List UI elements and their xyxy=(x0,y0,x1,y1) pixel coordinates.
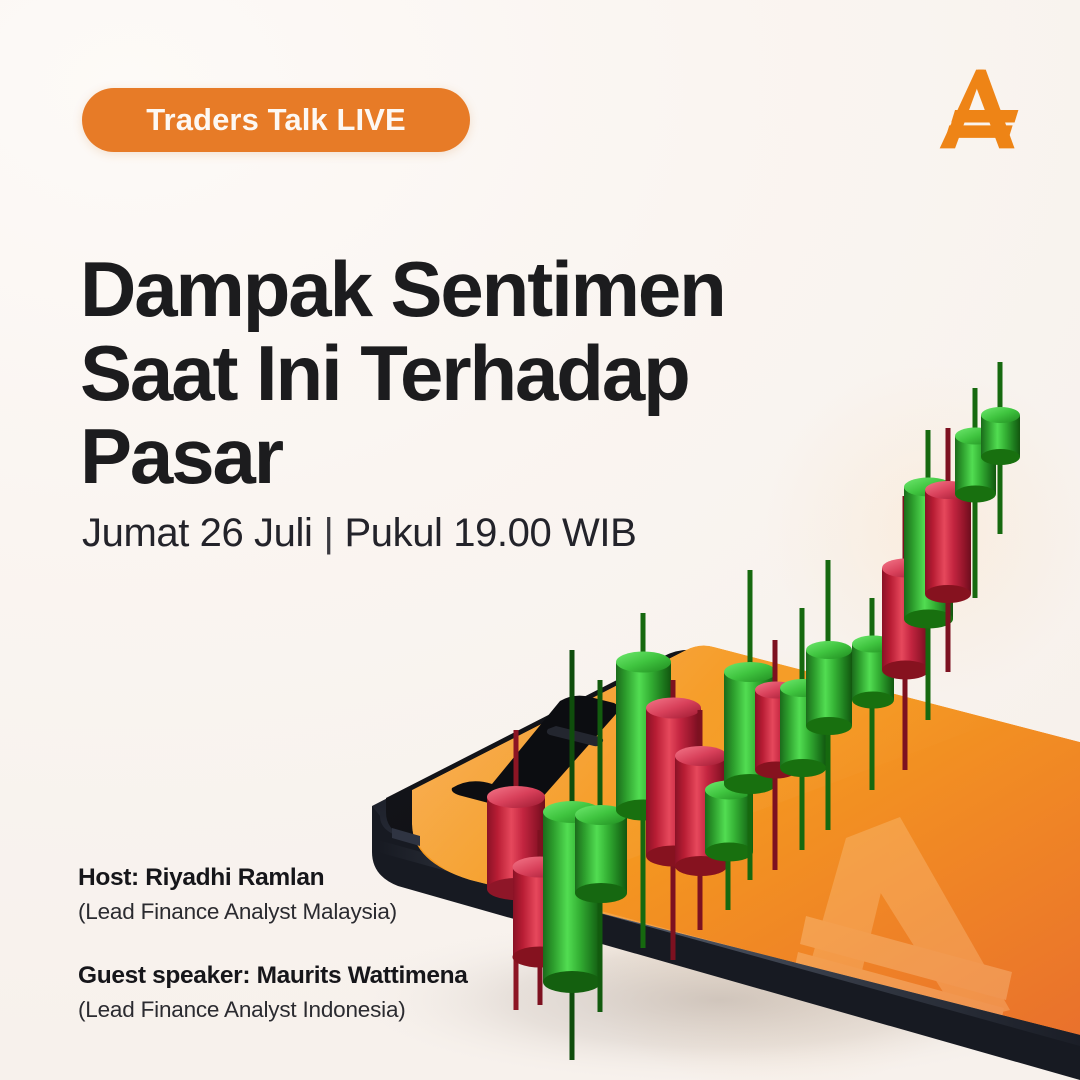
schedule-separator: | xyxy=(323,511,333,556)
speaker-host-name: Host: Riyadhi Ramlan xyxy=(78,862,468,894)
speaker-host-role: (Lead Finance Analyst Malaysia) xyxy=(78,897,468,927)
screen-watermark-a-logo xyxy=(792,817,1012,1036)
live-badge: Traders Talk LIVE xyxy=(82,88,470,152)
speaker-guest-role: (Lead Finance Analyst Indonesia) xyxy=(78,995,468,1025)
candle-15-up xyxy=(904,430,953,720)
candle-18-up xyxy=(981,362,1020,534)
candle-6-down xyxy=(646,680,701,960)
live-badge-label: Traders Talk LIVE xyxy=(146,102,406,138)
candle-3-up xyxy=(543,650,601,1060)
candle-14-down xyxy=(882,496,929,770)
candle-9-up xyxy=(724,570,776,880)
candle-10-down xyxy=(755,640,797,870)
speakers-list: Host: Riyadhi Ramlan (Lead Finance Analy… xyxy=(78,862,468,1025)
candle-1-down xyxy=(487,730,545,1010)
brand-a-logo-icon xyxy=(932,62,1028,158)
speaker-host: Host: Riyadhi Ramlan (Lead Finance Analy… xyxy=(78,862,468,927)
speaker-guest: Guest speaker: Maurits Wattimena (Lead F… xyxy=(78,960,468,1025)
title-line-2: Saat Ini Terhadap xyxy=(80,332,840,415)
candle-7-down xyxy=(675,710,727,930)
title-line-3: Pasar xyxy=(80,415,840,498)
candle-12-up xyxy=(806,560,852,830)
candle-2-down xyxy=(513,830,569,1005)
candle-5-up xyxy=(616,613,671,948)
event-schedule: Jumat 26 Juli|Pukul 19.00 WIB xyxy=(82,511,636,556)
candle-8-up xyxy=(705,745,753,910)
speaker-guest-name: Guest speaker: Maurits Wattimena xyxy=(78,960,468,992)
phone-notch xyxy=(452,696,619,808)
page-title: Dampak Sentimen Saat Ini Terhadap Pasar xyxy=(80,248,840,498)
candle-4-up xyxy=(575,680,627,1012)
candle-17-up xyxy=(955,388,996,598)
candle-13-up xyxy=(852,598,894,790)
smartphone xyxy=(372,646,1080,1080)
event-time: Pukul 19.00 WIB xyxy=(344,511,636,555)
title-line-1: Dampak Sentimen xyxy=(80,248,840,331)
candle-11-up xyxy=(780,608,826,850)
promo-poster: Traders Talk LIVE Dampak Sentimen Saat I… xyxy=(0,0,1080,1080)
event-date: Jumat 26 Juli xyxy=(82,511,312,555)
brand-logo xyxy=(932,62,1028,158)
candle-16-down xyxy=(925,428,971,672)
warm-glow-lower xyxy=(430,560,1080,1080)
